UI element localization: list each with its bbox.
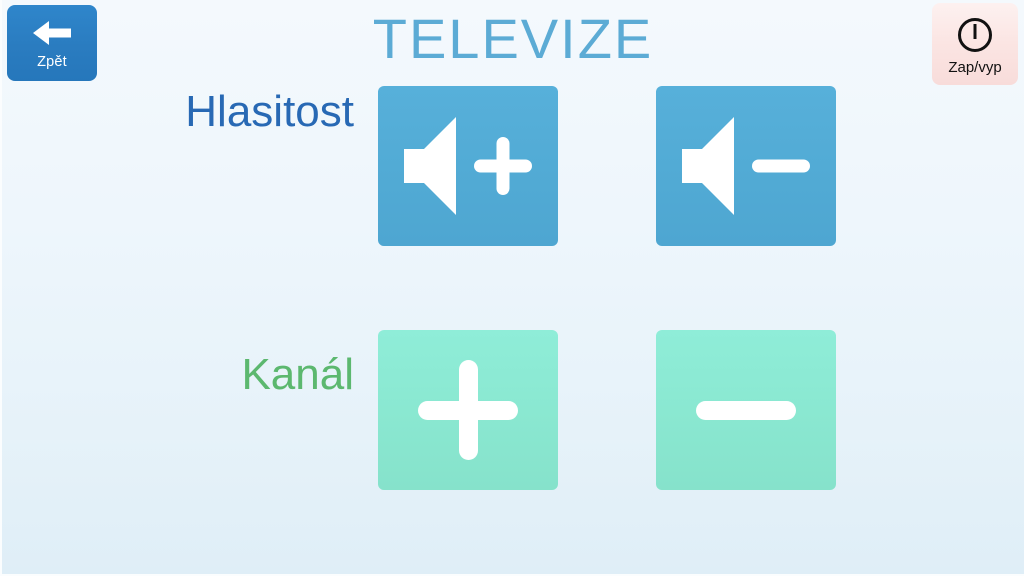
- channel-row-label: Kanál: [241, 295, 354, 455]
- channel-control-row: Kanál: [2, 330, 1024, 490]
- minus-icon: [688, 352, 804, 468]
- volume-up-button[interactable]: [378, 86, 558, 246]
- plus-icon-vertical-bar: [459, 360, 478, 460]
- power-button-label: Zap/vyp: [948, 60, 1001, 75]
- minus-icon-horizontal-bar: [696, 401, 796, 420]
- volume-row-label: Hlasitost: [185, 32, 354, 192]
- volume-control-row: Hlasitost: [2, 86, 1024, 246]
- page-title: TELEVIZE: [2, 8, 1024, 70]
- plus-icon: [410, 352, 526, 468]
- power-icon: [956, 16, 994, 54]
- power-button[interactable]: Zap/vyp: [932, 3, 1018, 85]
- back-button-label: Zpět: [37, 55, 67, 70]
- channel-down-button[interactable]: [656, 330, 836, 490]
- channel-up-button[interactable]: [378, 330, 558, 490]
- speaker-plus-icon: [398, 111, 538, 221]
- televize-remote-screen: Zpět Zap/vyp TELEVIZE Hlasitost: [0, 0, 1024, 576]
- back-button[interactable]: Zpět: [7, 5, 97, 81]
- volume-down-button[interactable]: [656, 86, 836, 246]
- speaker-minus-icon: [676, 111, 816, 221]
- arrow-left-icon: [29, 18, 75, 48]
